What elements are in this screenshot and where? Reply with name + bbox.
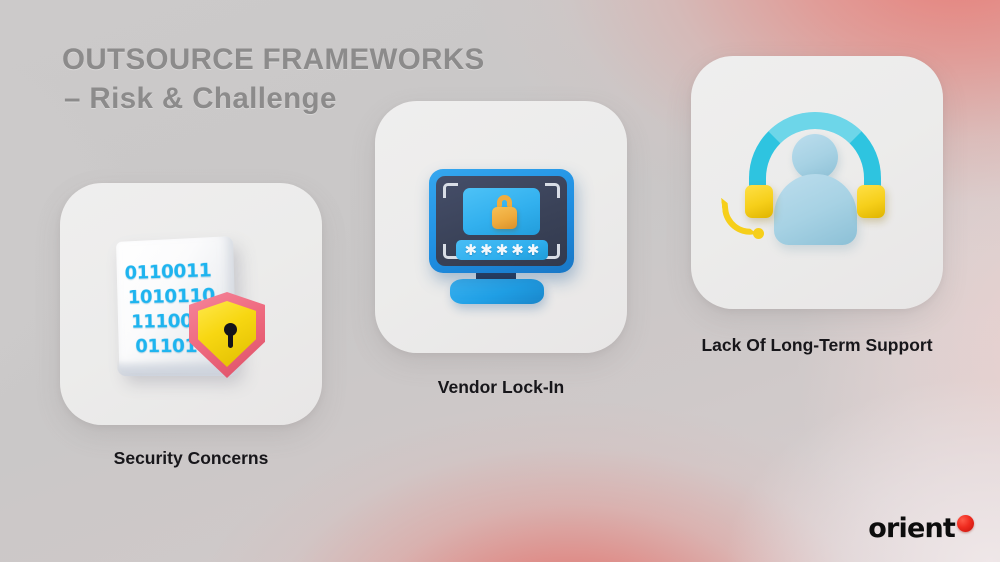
card-label-lack-of-long-term-support: Lack Of Long-Term Support	[666, 335, 968, 356]
password-mask-char: ✱	[527, 243, 540, 258]
card-vendor-lock-in[interactable]: ✱ ✱ ✱ ✱ ✱	[375, 101, 627, 353]
password-field: ✱ ✱ ✱ ✱ ✱	[456, 240, 548, 260]
headset-microphone-tip-icon	[753, 228, 764, 239]
padlock-icon	[492, 207, 517, 229]
keyhole-stem	[228, 332, 233, 348]
brand-logo-text: orient	[868, 515, 955, 542]
password-mask-char: ✱	[511, 243, 524, 258]
vendor-lock-in-illustration: ✱ ✱ ✱ ✱ ✱	[375, 101, 627, 353]
binary-row: 0110011	[124, 256, 253, 285]
slide-canvas: OUTSOURCE FRAMEWORKS – Risk & Challenge …	[0, 0, 1000, 562]
brand-logo: orient	[868, 515, 974, 542]
headset-microphone-boom-icon	[721, 194, 757, 237]
corner-bracket-icon	[443, 183, 458, 198]
card-lack-of-long-term-support[interactable]	[691, 56, 943, 309]
monitor-screen: ✱ ✱ ✱ ✱ ✱	[436, 176, 567, 266]
password-mask-char: ✱	[496, 243, 509, 258]
headset-earcup-right-icon	[857, 185, 885, 218]
card-security-concerns[interactable]: 0110011 1010110 11100 01101	[60, 183, 322, 425]
shield-inner-plate	[198, 301, 256, 367]
lock-panel	[463, 188, 540, 235]
monitor-base	[450, 279, 544, 304]
slide-title: OUTSOURCE FRAMEWORKS – Risk & Challenge	[62, 40, 485, 118]
password-mask-char: ✱	[480, 243, 493, 258]
red-sphere-icon	[957, 515, 974, 532]
security-concerns-illustration: 0110011 1010110 11100 01101	[60, 183, 322, 425]
password-mask-char: ✱	[465, 243, 478, 258]
card-label-security-concerns: Security Concerns	[60, 448, 322, 469]
title-line-primary: OUTSOURCE FRAMEWORKS	[62, 40, 485, 79]
support-headset-illustration	[691, 56, 943, 309]
title-line-secondary: – Risk & Challenge	[64, 79, 485, 118]
monitor-icon: ✱ ✱ ✱ ✱ ✱	[429, 169, 574, 273]
corner-bracket-icon	[545, 183, 560, 198]
card-label-vendor-lock-in: Vendor Lock-In	[375, 377, 627, 398]
